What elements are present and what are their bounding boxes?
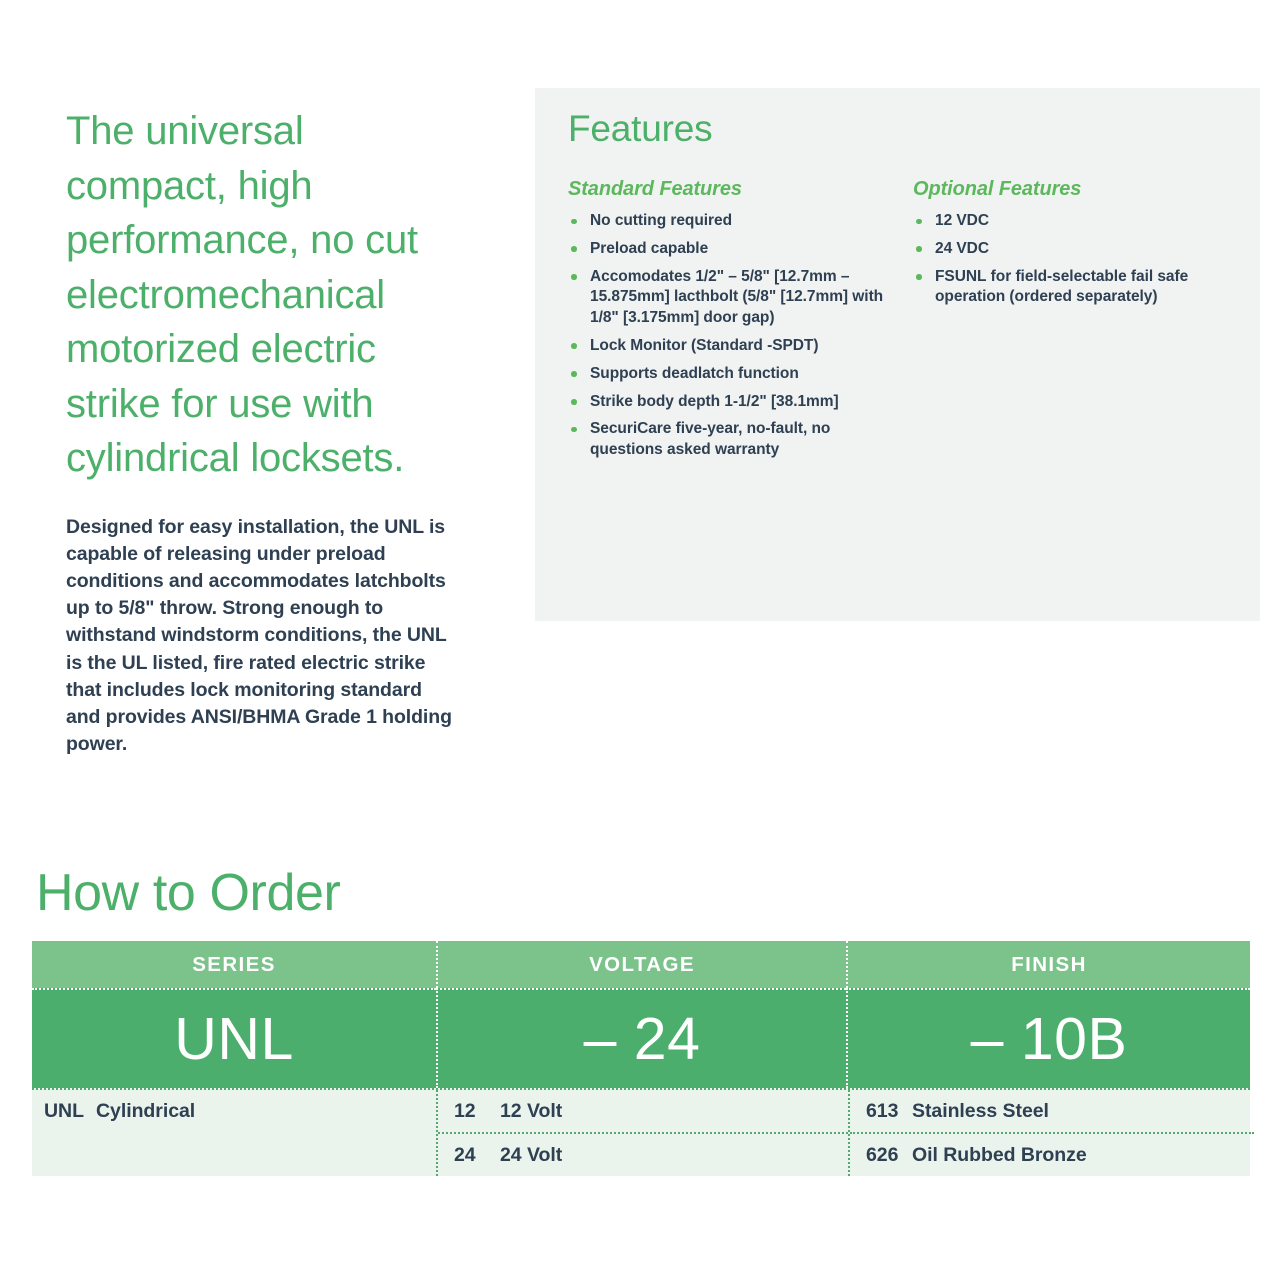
standard-features-list: No cutting required Preload capable Acco… — [568, 211, 898, 461]
list-item: Lock Monitor (Standard -SPDT) — [568, 336, 898, 357]
option-code: UNL — [44, 1100, 96, 1123]
options-voltage: 12 12 Volt 24 24 Volt — [436, 1090, 848, 1176]
list-item: Accomodates 1/2" – 5/8" [12.7mm – 15.875… — [568, 267, 898, 329]
list-item: UNL Cylindrical — [32, 1090, 436, 1132]
option-code: 12 — [454, 1100, 500, 1123]
options-series: UNL Cylindrical — [32, 1090, 436, 1176]
table-header-series: SERIES — [32, 941, 436, 988]
list-item: 12 12 Volt — [438, 1090, 848, 1132]
list-item: Preload capable — [568, 239, 898, 260]
table-value-series: UNL — [32, 988, 436, 1088]
list-item: 626 Oil Rubbed Bronze — [850, 1132, 1254, 1176]
table-value-voltage: – 24 — [436, 988, 846, 1088]
intro-column: The universal compact, high performance,… — [66, 104, 458, 758]
list-item: Strike body depth 1-1/2" [38.1mm] — [568, 392, 898, 413]
option-label: Cylindrical — [96, 1100, 195, 1123]
intro-body-text: Designed for easy installation, the UNL … — [66, 514, 458, 759]
how-to-order-title: How to Order — [36, 862, 340, 924]
list-item-label: 12 VDC — [935, 212, 989, 229]
list-item: 12 VDC — [913, 211, 1233, 232]
options-finish: 613 Stainless Steel 626 Oil Rubbed Bronz… — [848, 1090, 1254, 1176]
list-item: 24 24 Volt — [438, 1132, 848, 1176]
standard-features-subtitle: Standard Features — [568, 176, 898, 202]
features-title: Features — [568, 106, 712, 151]
table-header-row: SERIES VOLTAGE FINISH — [32, 941, 1250, 988]
how-to-order-table: SERIES VOLTAGE FINISH UNL – 24 – 10B UNL… — [32, 941, 1250, 1176]
option-code: 24 — [454, 1144, 500, 1167]
standard-features-column: Standard Features No cutting required Pr… — [568, 176, 898, 468]
optional-features-list: 12 VDC 24 VDC FSUNL for field-selectable… — [913, 211, 1233, 308]
table-header-voltage: VOLTAGE — [436, 941, 846, 988]
list-item-label: 24 VDC — [935, 240, 989, 257]
options-spacer — [32, 1132, 436, 1166]
table-options-row: UNL Cylindrical 12 12 Volt 24 24 Volt 61… — [32, 1088, 1250, 1176]
list-item: 613 Stainless Steel — [850, 1090, 1254, 1132]
list-item: 24 VDC — [913, 239, 1233, 260]
features-panel: Features Standard Features No cutting re… — [535, 88, 1260, 621]
table-value-finish: – 10B — [846, 988, 1250, 1088]
option-code: 626 — [866, 1144, 912, 1167]
list-item: No cutting required — [568, 211, 898, 232]
option-label: Oil Rubbed Bronze — [912, 1144, 1087, 1167]
table-value-row: UNL – 24 – 10B — [32, 988, 1250, 1088]
list-item: Supports deadlatch function — [568, 364, 898, 385]
intro-headline: The universal compact, high performance,… — [66, 104, 458, 486]
option-label: 12 Volt — [500, 1100, 562, 1123]
optional-features-subtitle: Optional Features — [913, 176, 1233, 202]
optional-features-column: Optional Features 12 VDC 24 VDC FSUNL fo… — [913, 176, 1233, 315]
option-label: Stainless Steel — [912, 1100, 1049, 1123]
option-code: 613 — [866, 1100, 912, 1123]
table-header-finish: FINISH — [846, 941, 1250, 988]
list-item: SecuriCare five-year, no-fault, no quest… — [568, 419, 898, 461]
list-item: FSUNL for field-selectable fail safe ope… — [913, 267, 1233, 309]
list-item-code: FSUNL — [935, 268, 986, 285]
option-label: 24 Volt — [500, 1144, 562, 1167]
